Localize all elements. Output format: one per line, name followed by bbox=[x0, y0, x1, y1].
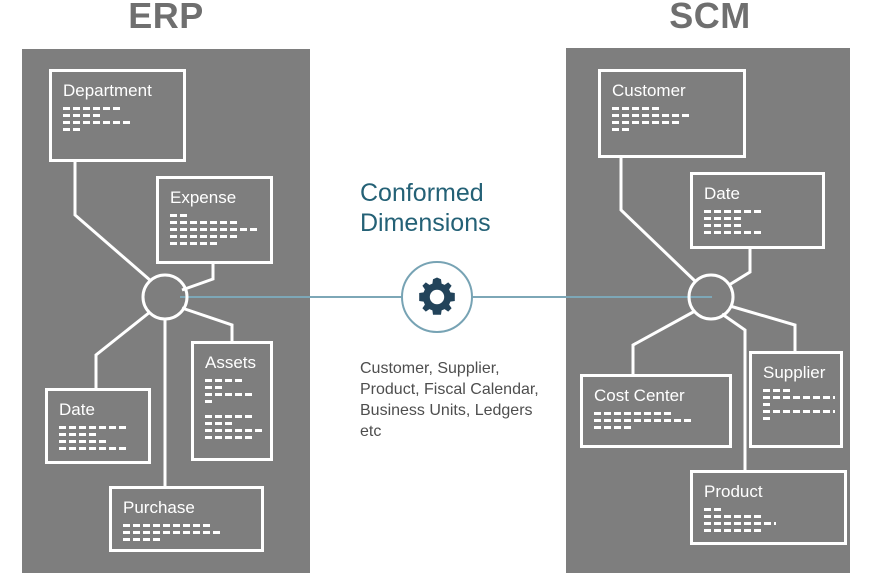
entity-box-cost-center[interactable]: Cost Center bbox=[580, 374, 732, 448]
entity-title: Date bbox=[59, 399, 137, 420]
conformed-title-line1: Conformed bbox=[360, 178, 550, 208]
entity-fields bbox=[594, 412, 718, 429]
entity-title: Customer bbox=[612, 80, 732, 101]
entity-box-date-erp[interactable]: Date bbox=[45, 388, 151, 464]
entity-fields bbox=[704, 508, 833, 532]
conformed-title-line2: Dimensions bbox=[360, 208, 550, 238]
section-title-scm: SCM bbox=[640, 0, 780, 36]
entity-fields bbox=[704, 210, 811, 234]
diagram-canvas: ERP SCM bbox=[0, 0, 888, 580]
entity-title: Assets bbox=[205, 352, 259, 373]
conformed-dimensions-list: Customer, Supplier, Product, Fiscal Cale… bbox=[360, 358, 540, 442]
gear-icon-glyph bbox=[417, 277, 457, 317]
entity-title: Product bbox=[704, 481, 833, 502]
bus-line-right bbox=[472, 296, 712, 298]
entity-title: Supplier bbox=[763, 362, 829, 383]
entity-box-date-scm[interactable]: Date bbox=[690, 172, 825, 249]
entity-fields bbox=[59, 426, 137, 450]
entity-fields bbox=[763, 389, 829, 420]
bus-line-left bbox=[180, 296, 402, 298]
entity-fields bbox=[612, 107, 732, 131]
entity-box-department[interactable]: Department bbox=[49, 69, 186, 162]
entity-box-customer[interactable]: Customer bbox=[598, 69, 746, 158]
gear-icon bbox=[401, 261, 473, 333]
entity-fields bbox=[170, 214, 259, 245]
entity-title: Department bbox=[63, 80, 172, 101]
entity-box-assets[interactable]: Assets bbox=[191, 341, 273, 461]
entity-fields bbox=[123, 524, 250, 541]
entity-title: Date bbox=[704, 183, 811, 204]
entity-box-product[interactable]: Product bbox=[690, 470, 847, 545]
entity-box-purchase[interactable]: Purchase bbox=[109, 486, 264, 552]
entity-box-supplier[interactable]: Supplier bbox=[749, 351, 843, 448]
entity-title: Cost Center bbox=[594, 385, 718, 406]
entity-title: Purchase bbox=[123, 497, 250, 518]
entity-box-expense[interactable]: Expense bbox=[156, 176, 273, 264]
entity-fields bbox=[63, 107, 172, 131]
entity-fields bbox=[205, 379, 259, 439]
entity-title: Expense bbox=[170, 187, 259, 208]
conformed-dimensions-title: Conformed Dimensions bbox=[360, 178, 550, 238]
section-title-erp: ERP bbox=[96, 0, 236, 36]
